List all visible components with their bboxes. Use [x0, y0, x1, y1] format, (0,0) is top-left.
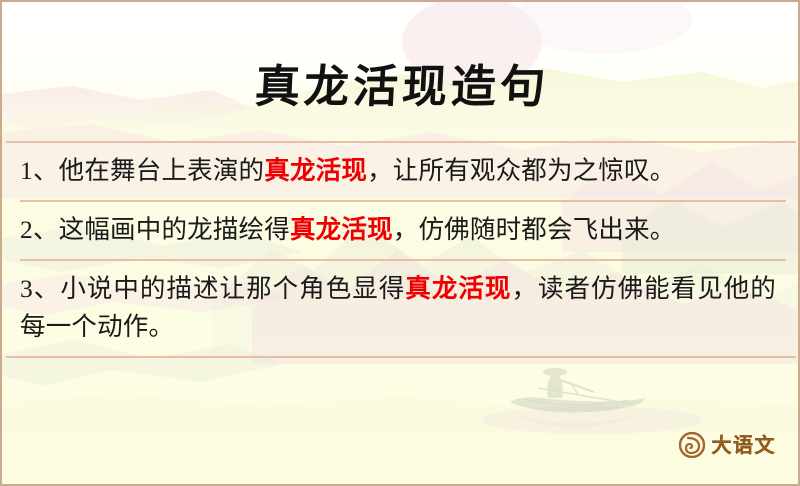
sentence-text-before: 这幅画中的龙描绘得: [59, 215, 290, 244]
sentence-list: 1、他在舞台上表演的真龙活现，让所有观众都为之惊叹。 2、这幅画中的龙描绘得真龙…: [2, 141, 800, 358]
sentence-number: 1、: [20, 156, 59, 185]
divider-2: [20, 259, 786, 261]
brand-logo-text: 大语文: [712, 435, 777, 455]
list-item: 1、他在舞台上表演的真龙活现，让所有观众都为之惊叹。: [2, 143, 800, 200]
sentence-text-before: 他在舞台上表演的: [59, 156, 265, 185]
brand-logo: 大语文: [679, 432, 777, 458]
title-area: 真龙活现造句: [2, 46, 800, 126]
idiom-highlight: 真龙活现: [405, 274, 511, 303]
idiom-highlight: 真龙活现: [290, 215, 393, 244]
page-title: 真龙活现造句: [254, 64, 550, 109]
sentence-number: 3、: [20, 274, 60, 303]
divider-1: [20, 200, 786, 202]
slide-canvas: 真龙活现造句 1、他在舞台上表演的真龙活现，让所有观众都为之惊叹。 2、这幅画中…: [0, 0, 800, 486]
divider-bottom: [6, 356, 796, 358]
fisherman-boat-illustration: [482, 354, 702, 434]
sentence-text-before: 小说中的描述让那个角色显得: [60, 274, 405, 303]
sentence-text-after: ，让所有观众都为之惊叹。: [367, 156, 675, 185]
sentence-number: 2、: [20, 215, 59, 244]
divider-top: [6, 141, 796, 143]
sentence-text-after: ，仿佛随时都会飞出来。: [393, 215, 676, 244]
list-item: 3、小说中的描述让那个角色显得真龙活现，读者仿佛能看见他的每一个动作。: [2, 261, 800, 357]
list-item: 2、这幅画中的龙描绘得真龙活现，仿佛随时都会飞出来。: [2, 202, 800, 259]
swirl-circle-icon: [679, 432, 705, 458]
idiom-highlight: 真龙活现: [264, 156, 367, 185]
